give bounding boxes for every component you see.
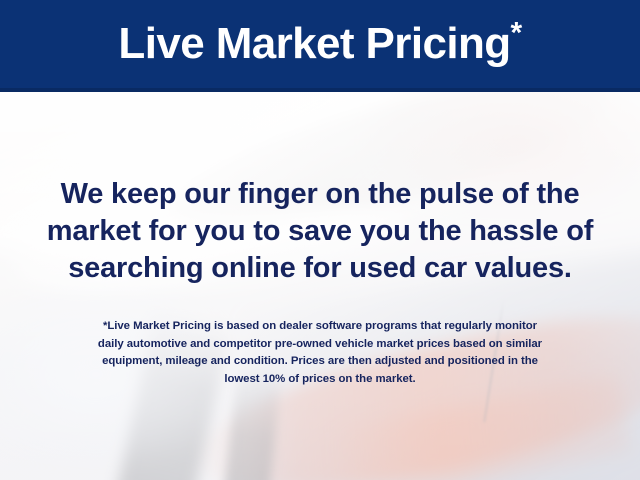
disclaimer-block: *Live Market Pricing is based on dealer … <box>30 318 610 388</box>
headline-block: We keep our finger on the pulse of the m… <box>0 176 640 287</box>
disclaimer-line-4: lowest 10% of prices on the market. <box>30 371 610 389</box>
disclaimer-line-2: daily automotive and competitor pre-owne… <box>30 336 610 354</box>
banner-title-asterisk: * <box>511 16 522 49</box>
disclaimer-line-3: equipment, mileage and condition. Prices… <box>30 353 610 371</box>
disclaimer-line-1: *Live Market Pricing is based on dealer … <box>30 318 610 336</box>
headline-line-1: We keep our finger on the pulse of the <box>0 176 640 213</box>
headline-line-3: searching online for used car values. <box>0 250 640 287</box>
banner-title-text: Live Market Pricing <box>118 19 510 68</box>
headline-line-2: market for you to save you the hassle of <box>0 213 640 250</box>
banner-bottom-edge <box>0 88 640 92</box>
title-banner: Live Market Pricing* <box>0 0 640 92</box>
live-market-pricing-promo-card: Live Market Pricing* We keep our finger … <box>0 0 640 480</box>
banner-title: Live Market Pricing* <box>118 22 521 70</box>
